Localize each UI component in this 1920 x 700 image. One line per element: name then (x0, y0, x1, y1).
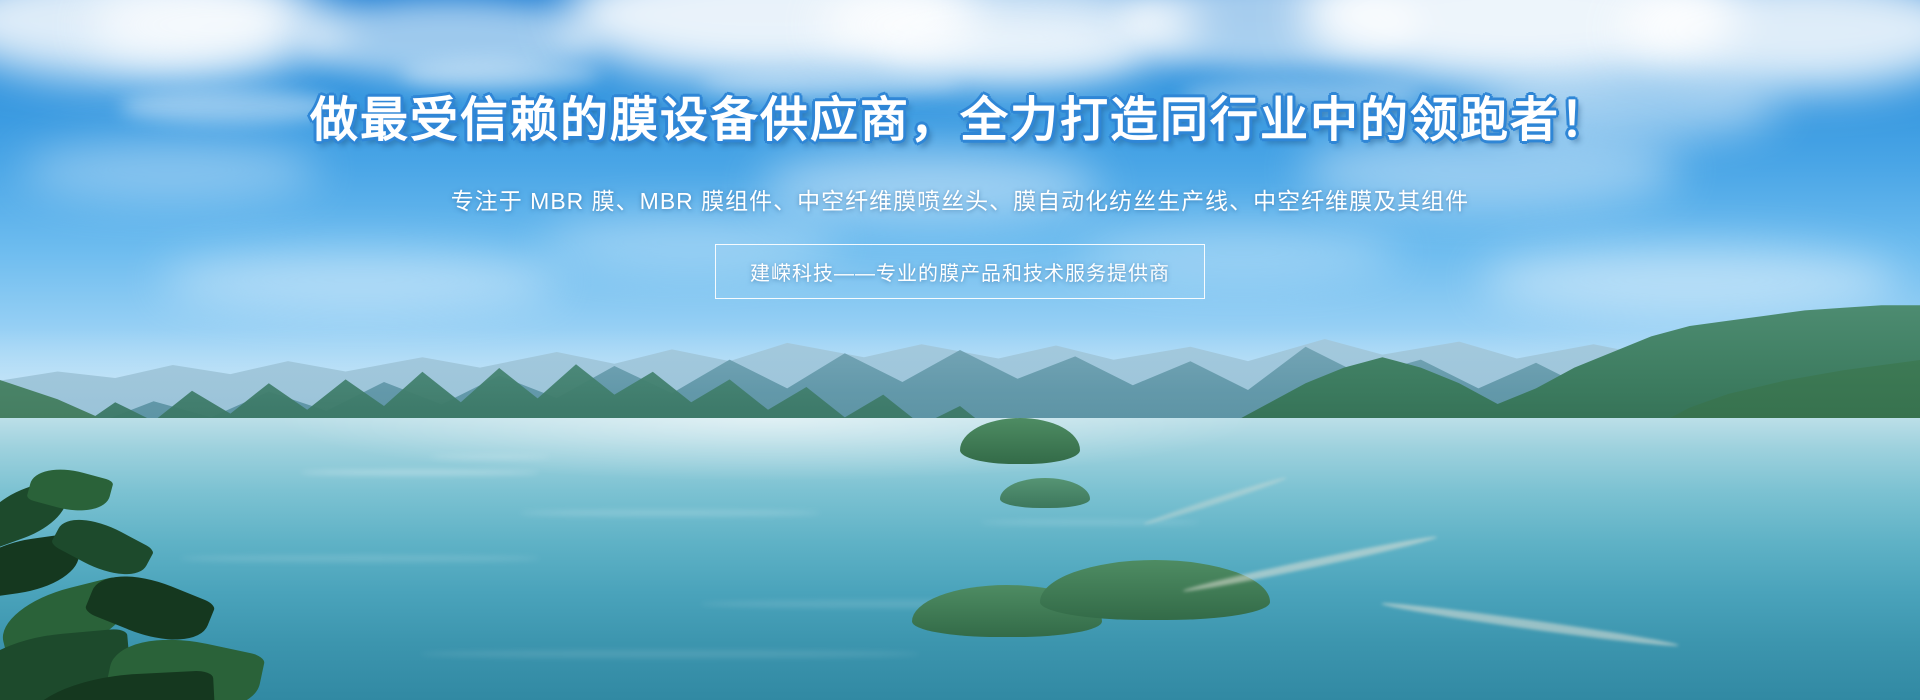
cloud-shape (20, 140, 320, 200)
cloud-shape (1480, 70, 1780, 140)
cloud-shape (400, 60, 600, 90)
hero-banner: 做最受信赖的膜设备供应商，全力打造同行业中的领跑者！ 专注于 MBR 膜、MBR… (0, 0, 1920, 700)
cloud-shape (540, 215, 840, 270)
cloud-shape (1300, 130, 1680, 210)
water-highlight (0, 418, 1920, 538)
leaf-shape (50, 505, 155, 588)
cloud-shape (1480, 245, 1900, 315)
water-ripple (980, 520, 1200, 525)
cloud-shape (880, 20, 1140, 80)
cloud-shape (120, 90, 340, 124)
water-ripple (300, 470, 540, 475)
cloud-shape (1180, 80, 1420, 110)
cloud-shape (1080, 225, 1400, 280)
water-ripple (520, 510, 820, 516)
cloud-shape (160, 250, 560, 310)
water-ripple (430, 455, 550, 459)
cloud-shape (700, 70, 960, 98)
cloud-shape (760, 150, 1100, 220)
foreground-foliage (0, 470, 270, 700)
water-ripple (420, 650, 920, 658)
